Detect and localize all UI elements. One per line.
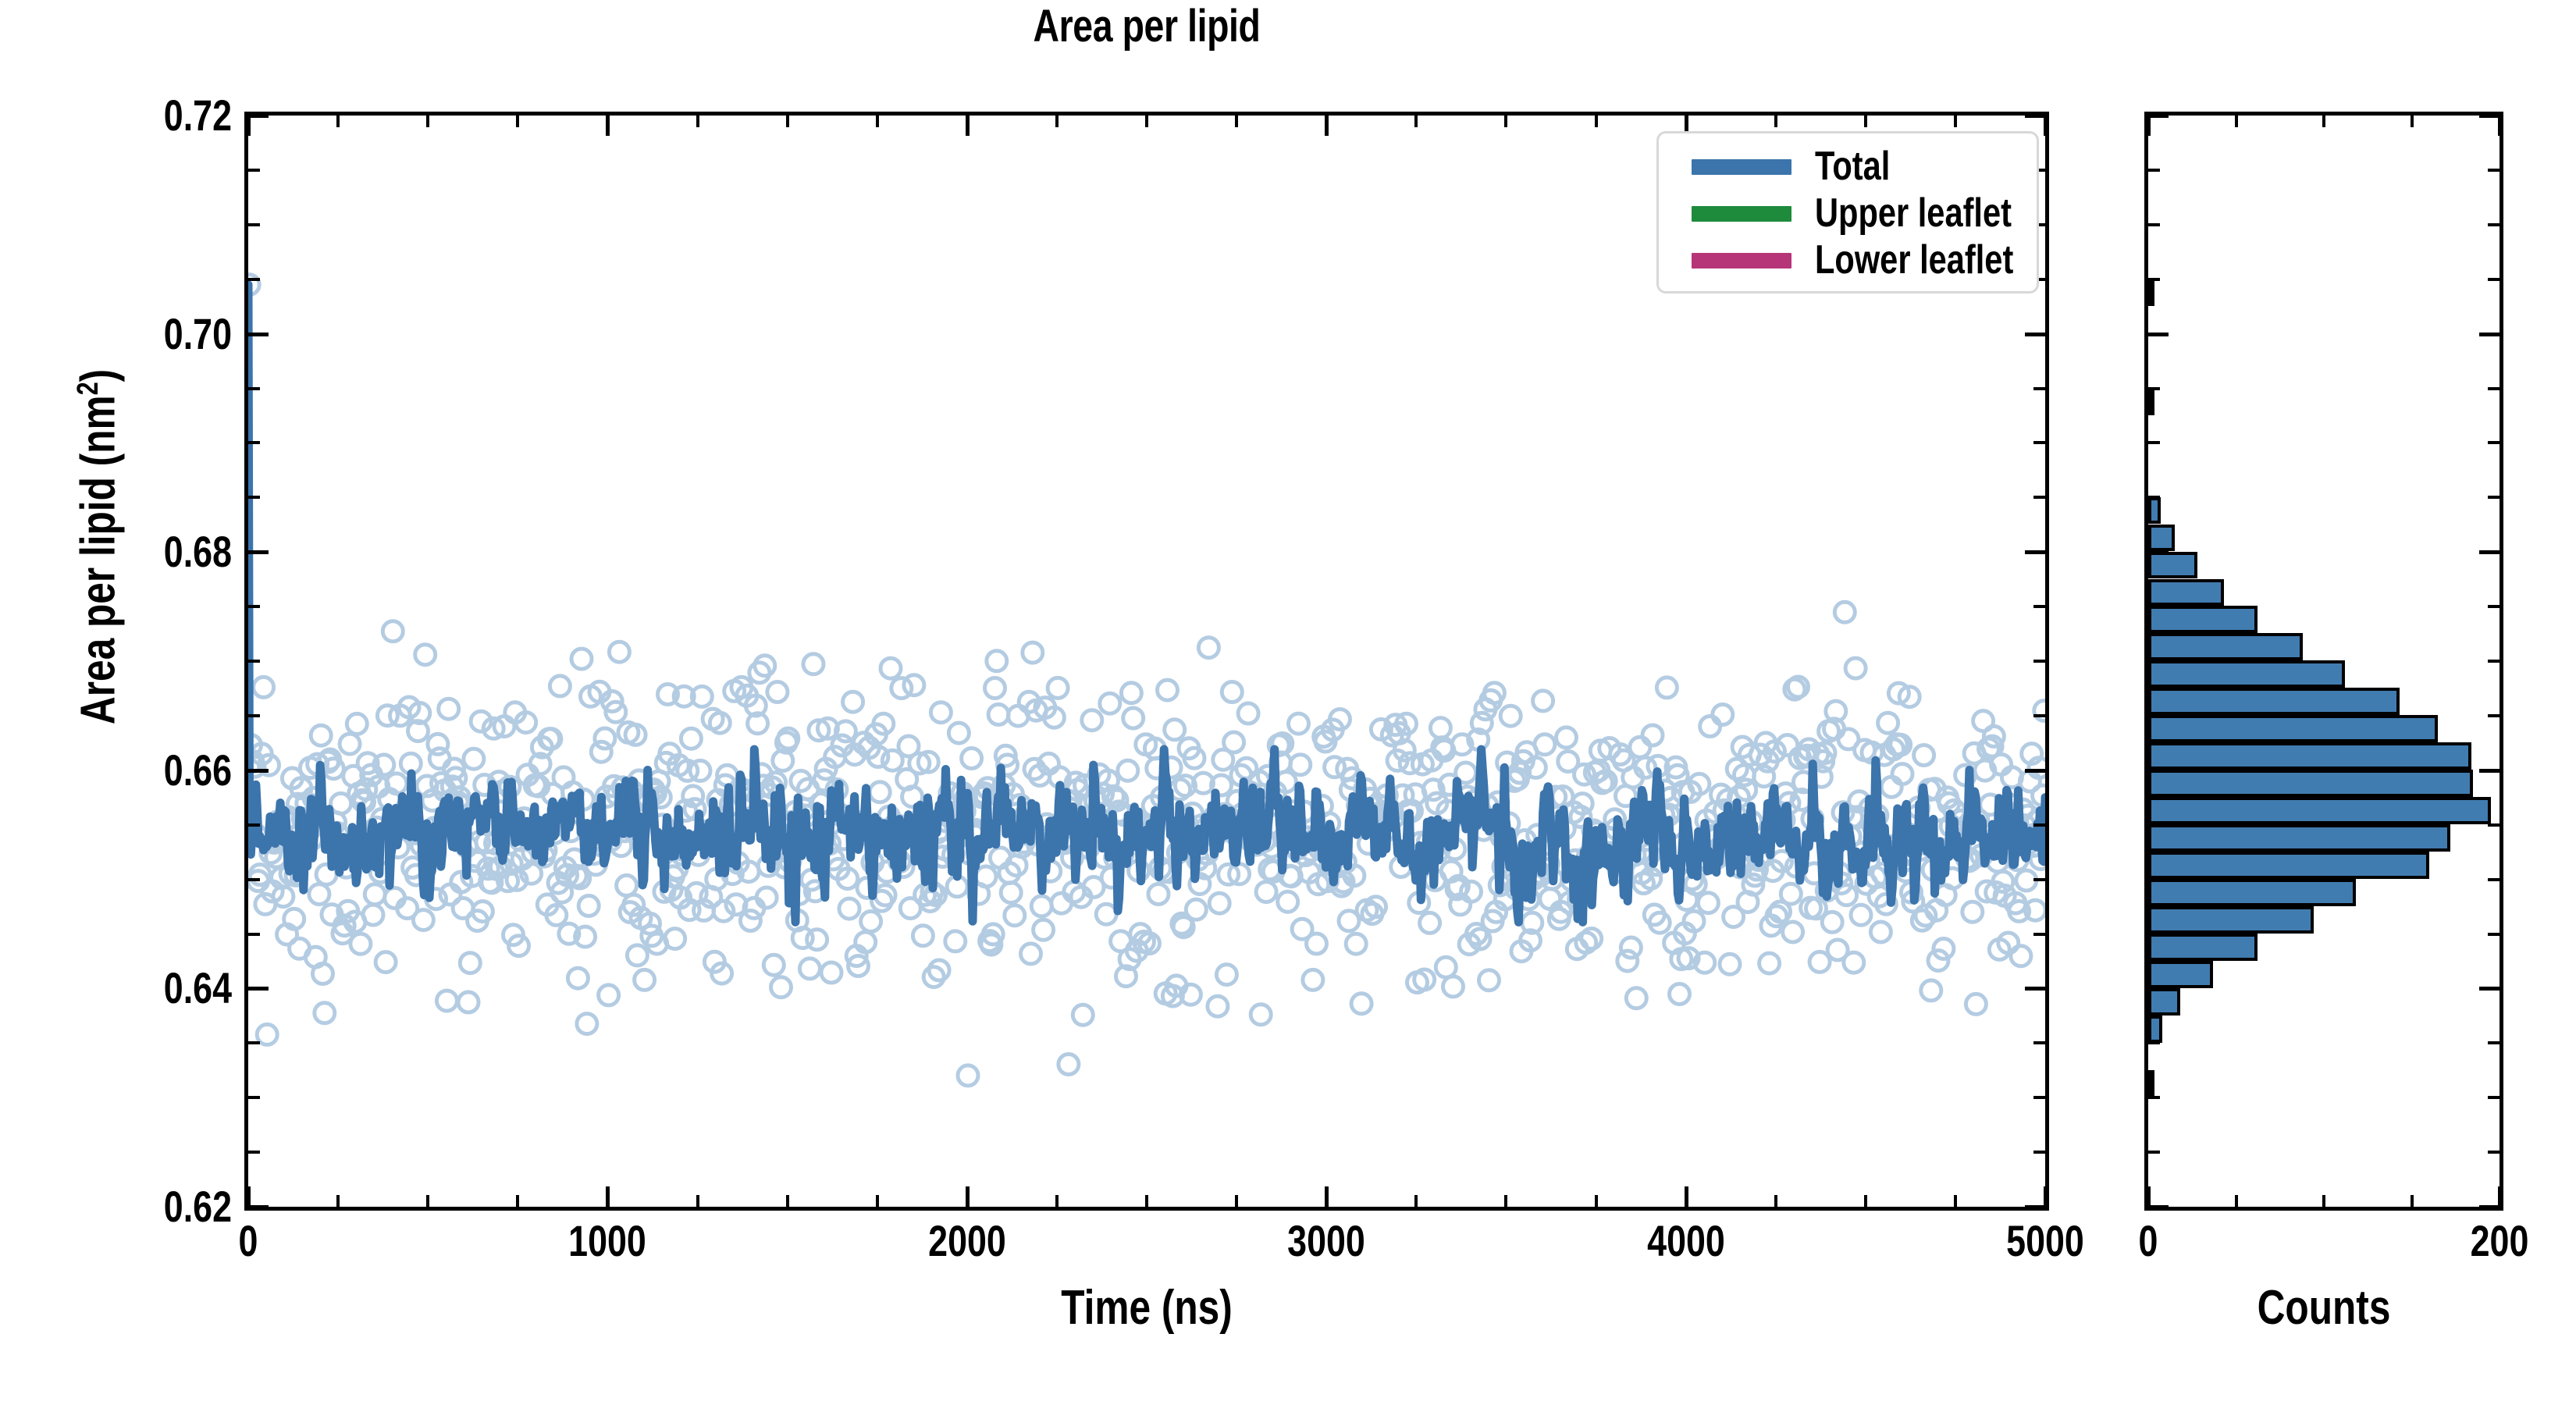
y-tick-minor — [248, 387, 260, 390]
y-tick-minor-right — [2033, 1205, 2045, 1208]
y-tick-minor-right — [2033, 714, 2045, 717]
histogram-bar — [2148, 1070, 2154, 1097]
legend-label: Lower leaflet — [1815, 237, 2013, 283]
y-tick-minor-right — [2033, 1041, 2045, 1044]
histogram-bar — [2148, 606, 2258, 633]
histogram-bar — [2148, 797, 2491, 824]
x-tick-minor-top — [426, 116, 429, 127]
histogram-bar — [2148, 742, 2471, 770]
y-tick-label: 0.64 — [164, 966, 232, 1010]
x-tick-minor — [516, 1195, 519, 1207]
x-tick-minor-top — [696, 116, 699, 127]
page-title: Area per lipid — [425, 3, 1869, 51]
y-tick-minor — [248, 278, 260, 281]
histogram-bar — [2148, 906, 2314, 934]
legend[interactable]: TotalUpper leafletLower leaflet — [1656, 131, 2039, 293]
y-tick-major-right — [2025, 987, 2045, 991]
hist-x-tick-minor-top — [2235, 116, 2238, 127]
hist-y-tick-major-right — [2479, 769, 2500, 773]
y-tick-label: 0.66 — [164, 749, 232, 792]
y-tick-minor — [248, 114, 260, 117]
y-tick-minor — [248, 660, 260, 663]
x-axis-label: Time (ns) — [425, 1280, 1869, 1336]
x-tick-major — [606, 1186, 610, 1207]
y-tick-minor-right — [2033, 933, 2045, 936]
histogram-bar — [2148, 525, 2175, 552]
legend-color-swatch — [1692, 253, 1791, 269]
hist-y-tick-minor-right — [2488, 1096, 2500, 1099]
y-axis-label-close: ) — [72, 368, 126, 382]
y-tick-major — [248, 769, 269, 773]
hist-x-tick-major-top — [2147, 116, 2151, 136]
histogram-bar — [2148, 770, 2473, 797]
hist-y-tick-minor — [2148, 605, 2160, 608]
hist-y-tick-minor-right — [2488, 387, 2500, 390]
legend-color-swatch — [1692, 159, 1791, 175]
histogram-bar — [2148, 279, 2154, 306]
y-tick-minor-right — [2033, 441, 2045, 444]
hist-x-tick-label: 200 — [2471, 1219, 2529, 1263]
histogram-bar — [2148, 852, 2429, 879]
y-tick-minor-right — [2033, 823, 2045, 827]
hist-y-tick-minor-right — [2488, 114, 2500, 117]
hist-y-tick-minor — [2148, 333, 2160, 336]
y-tick-minor — [248, 714, 260, 717]
legend-item-total[interactable]: Total — [1659, 144, 2037, 190]
x-tick-minor-top — [1954, 116, 1957, 127]
histogram-bar — [2148, 497, 2161, 525]
hist-y-tick-minor — [2148, 933, 2160, 936]
x-tick-major-top — [966, 116, 970, 136]
hist-x-tick-minor — [2322, 1195, 2325, 1207]
x-tick-minor-top — [336, 116, 340, 127]
y-tick-minor-right — [2033, 1096, 2045, 1099]
hist-y-tick-minor — [2148, 278, 2160, 281]
x-tick-minor — [1864, 1195, 1867, 1207]
hist-y-tick-minor — [2148, 114, 2160, 117]
y-axis-label-text: Area per lipid (nm — [72, 395, 126, 724]
y-tick-minor-right — [2033, 878, 2045, 881]
x-tick-minor-top — [786, 116, 789, 127]
histogram-clip — [2148, 116, 2500, 1207]
hist-y-tick-minor — [2148, 169, 2160, 172]
histogram-bar — [2148, 388, 2154, 415]
x-tick-minor — [1055, 1195, 1059, 1207]
y-axis-label-exponent: 2 — [71, 382, 105, 395]
x-tick-minor — [1595, 1195, 1598, 1207]
x-tick-minor-top — [1235, 116, 1238, 127]
y-tick-minor — [248, 1096, 260, 1099]
y-tick-minor — [248, 1205, 260, 1208]
hist-y-tick-minor-right — [2488, 1041, 2500, 1044]
hist-y-tick-minor-right — [2488, 1205, 2500, 1208]
x-tick-major-top — [1325, 116, 1329, 136]
x-tick-minor — [696, 1195, 699, 1207]
hist-x-tick-minor — [2411, 1195, 2414, 1207]
histogram-bar — [2148, 824, 2450, 852]
y-tick-minor — [248, 496, 260, 499]
x-tick-major-top — [606, 116, 610, 136]
hist-y-tick-minor-right — [2488, 441, 2500, 444]
y-tick-minor — [248, 1151, 260, 1154]
hist-y-tick-minor-right — [2488, 1151, 2500, 1154]
histogram-bar — [2148, 660, 2345, 688]
hist-y-tick-minor — [2148, 223, 2160, 226]
histogram-bar — [2148, 633, 2303, 660]
histogram-bar — [2148, 579, 2224, 606]
y-axis-label: Area per lipid (nm2) — [61, 0, 116, 1097]
x-tick-major-top — [247, 116, 251, 136]
hist-y-tick-minor-right — [2488, 878, 2500, 881]
y-tick-minor — [248, 878, 260, 881]
y-tick-label: 0.62 — [164, 1185, 232, 1229]
histogram-bar — [2148, 988, 2180, 1016]
x-tick-minor-top — [1774, 116, 1777, 127]
hist-y-tick-minor — [2148, 714, 2160, 717]
y-tick-minor — [248, 823, 260, 827]
x-tick-minor-top — [1145, 116, 1148, 127]
x-tick-minor-top — [1864, 116, 1867, 127]
x-tick-label: 4000 — [1647, 1219, 1725, 1263]
hist-y-tick-minor-right — [2488, 823, 2500, 827]
y-tick-label: 0.72 — [164, 94, 232, 137]
y-tick-minor — [248, 333, 260, 336]
hist-y-tick-major — [2148, 987, 2169, 991]
x-tick-minor-top — [1504, 116, 1507, 127]
y-tick-major-right — [2025, 550, 2045, 554]
y-tick-minor-right — [2033, 660, 2045, 663]
hist-y-tick-minor — [2148, 823, 2160, 827]
hist-y-tick-minor — [2148, 660, 2160, 663]
hist-y-tick-minor-right — [2488, 169, 2500, 172]
x-tick-minor — [1774, 1195, 1777, 1207]
hist-y-tick-minor — [2148, 387, 2160, 390]
y-tick-minor-right — [2033, 496, 2045, 499]
hist-x-tick-major — [2147, 1186, 2151, 1207]
hist-y-tick-major-right — [2479, 987, 2500, 991]
x-tick-minor — [1235, 1195, 1238, 1207]
y-tick-minor — [248, 169, 260, 172]
x-tick-major — [966, 1186, 970, 1207]
legend-item-lower-leaflet[interactable]: Lower leaflet — [1659, 238, 2037, 283]
legend-color-swatch — [1692, 206, 1791, 222]
x-tick-minor — [1414, 1195, 1418, 1207]
y-tick-minor — [248, 933, 260, 936]
hist-y-tick-major — [2148, 550, 2169, 554]
y-tick-major — [248, 550, 269, 554]
legend-label: Total — [1815, 144, 1890, 189]
y-tick-label: 0.70 — [164, 312, 232, 356]
hist-y-tick-minor-right — [2488, 933, 2500, 936]
histogram-bar — [2148, 1016, 2162, 1043]
x-tick-minor-top — [876, 116, 879, 127]
y-tick-minor-right — [2033, 333, 2045, 336]
legend-item-upper-leaflet[interactable]: Upper leaflet — [1659, 191, 2037, 237]
y-tick-minor — [248, 1041, 260, 1044]
hist-y-tick-minor-right — [2488, 278, 2500, 281]
histogram-x-axis-label: Counts — [2180, 1280, 2467, 1336]
hist-y-tick-minor-right — [2488, 223, 2500, 226]
hist-y-tick-minor — [2148, 1041, 2160, 1044]
hist-x-tick-minor-top — [2411, 116, 2414, 127]
hist-y-tick-minor — [2148, 496, 2160, 499]
hist-x-tick-label: 0 — [2139, 1219, 2158, 1263]
y-tick-minor — [248, 223, 260, 226]
hist-y-tick-major-right — [2479, 550, 2500, 554]
x-tick-minor — [786, 1195, 789, 1207]
y-tick-minor-right — [2033, 605, 2045, 608]
x-tick-major — [2044, 1186, 2048, 1207]
x-tick-minor — [336, 1195, 340, 1207]
x-tick-label: 5000 — [2006, 1219, 2084, 1263]
x-tick-minor — [1954, 1195, 1957, 1207]
y-tick-minor-right — [2033, 387, 2045, 390]
hist-x-tick-minor-top — [2322, 116, 2325, 127]
x-tick-major — [1685, 1186, 1688, 1207]
histogram-bar — [2148, 552, 2197, 579]
x-tick-minor-top — [1595, 116, 1598, 127]
x-tick-minor-top — [1055, 116, 1059, 127]
x-tick-label: 0 — [239, 1219, 258, 1263]
histogram-plot-area — [2144, 112, 2503, 1211]
x-tick-major-top — [2044, 116, 2048, 136]
figure-canvas: Area per lipid 0100020003000400050000.62… — [0, 0, 2576, 1405]
hist-x-tick-major — [2498, 1186, 2502, 1207]
histogram-bar — [2148, 961, 2213, 988]
x-tick-label: 2000 — [928, 1219, 1006, 1263]
histogram-bar — [2148, 715, 2438, 742]
y-tick-major — [248, 987, 269, 991]
x-tick-label: 3000 — [1287, 1219, 1365, 1263]
histogram-bar — [2148, 879, 2356, 906]
x-tick-minor — [876, 1195, 879, 1207]
y-tick-minor — [248, 441, 260, 444]
legend-label: Upper leaflet — [1815, 190, 2012, 236]
hist-y-tick-minor — [2148, 441, 2160, 444]
hist-y-tick-minor — [2148, 1205, 2160, 1208]
hist-x-tick-minor — [2235, 1195, 2238, 1207]
y-tick-label: 0.68 — [164, 530, 232, 574]
hist-x-tick-major-top — [2498, 116, 2502, 136]
hist-y-tick-minor — [2148, 878, 2160, 881]
hist-y-tick-minor-right — [2488, 496, 2500, 499]
x-tick-major — [247, 1186, 251, 1207]
y-tick-major-right — [2025, 769, 2045, 773]
hist-y-tick-minor — [2148, 1096, 2160, 1099]
hist-y-tick-minor-right — [2488, 714, 2500, 717]
x-tick-minor — [1504, 1195, 1507, 1207]
hist-y-tick-minor-right — [2488, 333, 2500, 336]
x-tick-minor — [1145, 1195, 1148, 1207]
x-tick-minor-top — [1414, 116, 1418, 127]
histogram-bar — [2148, 934, 2258, 961]
histogram-bar — [2148, 688, 2400, 715]
hist-y-tick-minor-right — [2488, 605, 2500, 608]
x-tick-minor — [426, 1195, 429, 1207]
hist-y-tick-minor — [2148, 1151, 2160, 1154]
hist-y-tick-major — [2148, 769, 2169, 773]
y-tick-minor — [248, 605, 260, 608]
x-tick-minor-top — [516, 116, 519, 127]
hist-y-tick-minor-right — [2488, 660, 2500, 663]
x-tick-label: 1000 — [569, 1219, 647, 1263]
y-tick-minor-right — [2033, 114, 2045, 117]
y-tick-minor-right — [2033, 1151, 2045, 1154]
x-tick-major — [1325, 1186, 1329, 1207]
